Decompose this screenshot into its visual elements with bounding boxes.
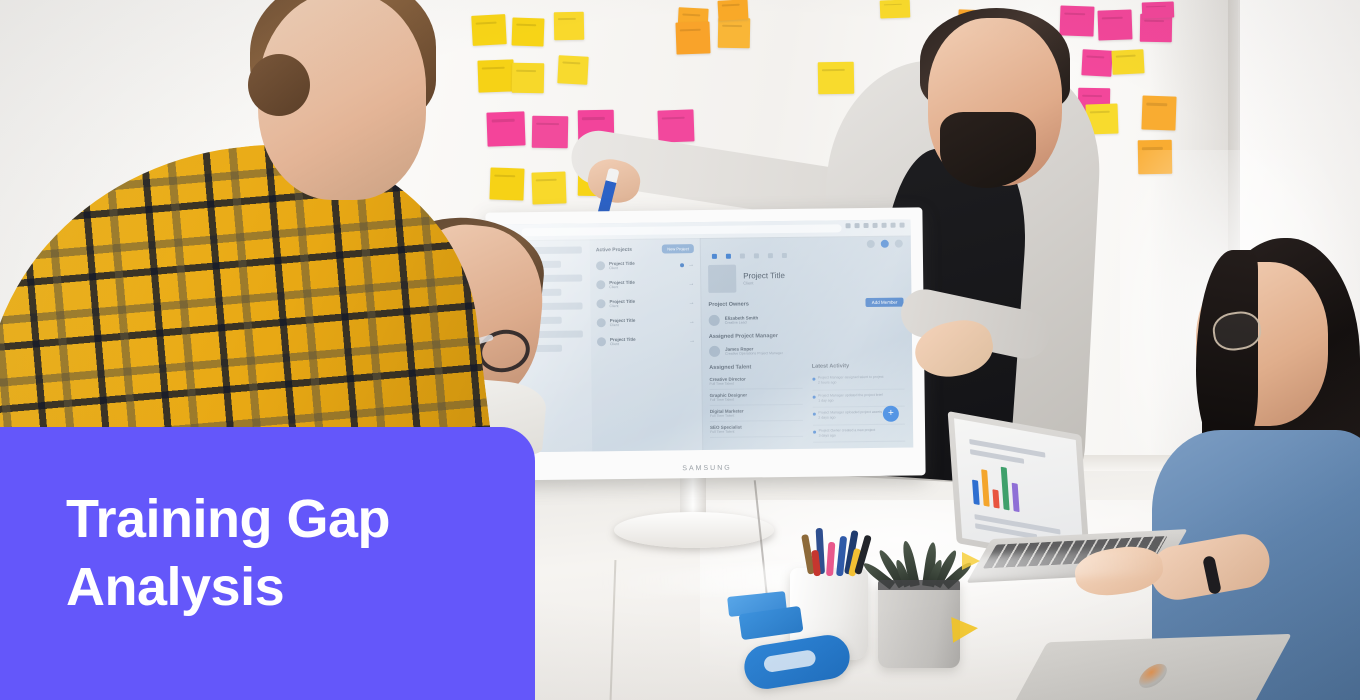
talent-list: Creative DirectorFull Time TalentGraphic…	[709, 373, 802, 438]
talent-row: Creative DirectorFull Time Talent	[709, 373, 802, 390]
manager-header-row: Assigned Project Manager	[709, 332, 904, 340]
avatar	[596, 280, 605, 289]
bullet-icon	[812, 395, 815, 398]
chevron-right-icon[interactable]: →	[688, 281, 694, 287]
bullet-icon	[812, 413, 815, 416]
progress-step[interactable]	[768, 253, 773, 258]
title-card: Training Gap Analysis	[0, 427, 535, 700]
sticky-note	[554, 12, 584, 41]
project-list-item[interactable]: Project TitleClient→	[591, 312, 701, 332]
project-thumbnail	[708, 265, 736, 293]
activity-text: Project Manager assigned talent to proje…	[818, 375, 884, 380]
laptop-chart-element	[1012, 483, 1020, 512]
talent-row: Graphic DesignerFull Time Talent	[710, 389, 803, 406]
sticky-note	[489, 167, 524, 200]
assigned-manager-header: Assigned Project Manager	[709, 333, 778, 340]
laptop-chart-element	[1001, 467, 1010, 511]
progress-step[interactable]	[754, 253, 759, 258]
activity-text: Project Manager uploaded project assets	[818, 410, 882, 415]
add-member-button[interactable]: Add Member	[866, 298, 904, 307]
project-owners-header-row: Project Owners Add Member	[708, 298, 903, 309]
sticky-note	[486, 111, 525, 146]
detail-columns: Assigned Talent Creative DirectorFull Ti…	[709, 363, 905, 444]
project-list-title: Active Projects	[596, 246, 632, 252]
laptop-chart-element	[992, 489, 999, 508]
assigned-talent-column: Assigned Talent Creative DirectorFull Ti…	[709, 364, 802, 444]
progress-steps	[712, 252, 903, 259]
sticky-note	[675, 21, 710, 54]
bullet-icon	[812, 378, 815, 381]
talent-status: Full Time Talent	[709, 381, 802, 386]
sticky-note	[1081, 49, 1112, 77]
detail-topbar	[708, 240, 903, 250]
project-owner-row: Elizabeth Smith Creative Lead	[709, 310, 904, 329]
sticky-note	[531, 171, 566, 204]
project-detail-panel: Project Title Client Project Owners Add …	[700, 235, 914, 450]
sticky-note	[532, 116, 569, 149]
project-list-item[interactable]: Project TitleClient→	[590, 293, 700, 313]
talent-row: Digital MarketerFull Time Talent	[710, 405, 803, 422]
avatar	[709, 346, 720, 357]
notifications-icon[interactable]	[881, 240, 889, 248]
sticky-note	[718, 18, 751, 49]
sticky-note	[477, 59, 514, 92]
activity-time: 2 days ago	[818, 416, 835, 420]
sticky-note	[471, 14, 507, 46]
avatar	[597, 337, 606, 346]
progress-step[interactable]	[740, 254, 745, 259]
monitor-screen: Active Projects New Project Project Titl…	[498, 219, 914, 452]
owner-role: Creative Lead	[725, 320, 759, 324]
marker-pen	[826, 542, 835, 576]
talent-row: SEO SpecialistFull Time Talent	[710, 421, 803, 438]
progress-step[interactable]	[712, 254, 717, 259]
manager-role: Creative Operations Project Manager	[725, 351, 783, 356]
sticky-note	[1141, 95, 1176, 130]
new-project-button[interactable]: New Project	[662, 244, 694, 253]
closed-laptop	[1008, 634, 1292, 700]
chevron-right-icon[interactable]: →	[688, 300, 694, 306]
latest-activity-column: Latest Activity Project Manager assigned…	[812, 363, 905, 443]
toolbar-icon	[846, 223, 851, 228]
sticky-note	[1142, 1, 1175, 18]
project-manager-row: James Roper Creative Operations Project …	[709, 341, 904, 360]
sticky-note	[818, 62, 855, 95]
project-list-panel[interactable]: Active Projects New Project Project Titl…	[590, 238, 704, 451]
chevron-right-icon[interactable]: →	[689, 319, 695, 325]
project-dashboard: Active Projects New Project Project Titl…	[498, 219, 914, 452]
browser-url-bar[interactable]	[522, 224, 842, 236]
sticky-note	[1097, 9, 1132, 40]
toolbar-icon	[855, 223, 860, 228]
bullet-icon	[813, 430, 816, 433]
sticky-note	[1059, 5, 1094, 36]
add-fab-button[interactable]: +	[883, 406, 899, 422]
avatar	[709, 315, 720, 326]
project-list-item[interactable]: Project TitleClient→	[590, 274, 700, 294]
toolbar-icon	[873, 223, 878, 228]
progress-step[interactable]	[782, 253, 787, 258]
activity-time: 1 day ago	[818, 398, 833, 402]
toolbar-icon	[882, 223, 887, 228]
project-list-item[interactable]: Project TitleClient→	[590, 255, 700, 275]
sticky-note	[717, 0, 748, 21]
project-list-item[interactable]: Project TitleClient→	[591, 331, 701, 351]
talent-status: Full Time Talent	[710, 429, 803, 434]
activity-text: Project Manager updated the project brie…	[818, 392, 882, 397]
avatar[interactable]	[895, 240, 903, 248]
activity-row: Project Manager assigned talent to proje…	[812, 372, 905, 391]
sticky-note	[512, 63, 545, 94]
sticky-note	[512, 17, 545, 46]
search-icon[interactable]	[867, 240, 875, 248]
project-title-block: Project Title Client	[708, 263, 903, 293]
latest-activity-header: Latest Activity	[812, 363, 905, 370]
project-list-header: Active Projects New Project	[590, 238, 700, 256]
browser-toolbar-icons	[846, 223, 905, 229]
avatar	[596, 261, 605, 270]
avatar	[596, 299, 605, 308]
talent-status: Full Time Talent	[710, 413, 803, 418]
chevron-right-icon[interactable]: →	[689, 338, 695, 344]
monitor-brand-label: SAMSUNG	[488, 462, 925, 474]
activity-time: 2 hours ago	[818, 381, 837, 385]
monitor-base	[614, 512, 774, 548]
status-dot	[680, 263, 684, 267]
toolbar-icon	[900, 223, 905, 228]
project-owners-header: Project Owners	[708, 301, 748, 307]
assigned-talent-header: Assigned Talent	[709, 364, 802, 371]
planter-soil	[878, 580, 960, 590]
project-list[interactable]: Project TitleClient→Project TitleClient→…	[590, 255, 701, 351]
progress-step[interactable]	[726, 254, 731, 259]
succulent-planter	[878, 580, 960, 668]
laptop-chart-element	[981, 469, 989, 507]
sticky-note	[657, 109, 694, 142]
sticky-note	[1111, 49, 1144, 75]
toolbar-icon	[891, 223, 896, 228]
activity-time: 3 days ago	[819, 433, 836, 437]
avatar	[597, 318, 606, 327]
laptop-chart-element	[972, 480, 980, 505]
laptop-logo	[1134, 663, 1171, 688]
talent-status: Full Time Talent	[710, 397, 803, 402]
activity-row: Project Owner created a new project3 day…	[813, 424, 906, 443]
toolbar-icon	[864, 223, 869, 228]
project-subtitle: Client	[743, 280, 753, 285]
banner-image: Active Projects New Project Project Titl…	[0, 0, 1360, 700]
samsung-monitor: Active Projects New Project Project Titl…	[485, 207, 925, 480]
sticky-note	[557, 55, 588, 85]
project-item-subtitle: Client	[609, 265, 676, 270]
project-title: Project Title	[743, 271, 785, 281]
plaid-woman-hair-bun	[248, 54, 310, 116]
page-title: Training Gap Analysis	[66, 485, 535, 621]
sticky-note	[880, 0, 911, 19]
chevron-right-icon[interactable]: →	[688, 262, 694, 268]
activity-text: Project Owner created a new project	[819, 427, 876, 432]
